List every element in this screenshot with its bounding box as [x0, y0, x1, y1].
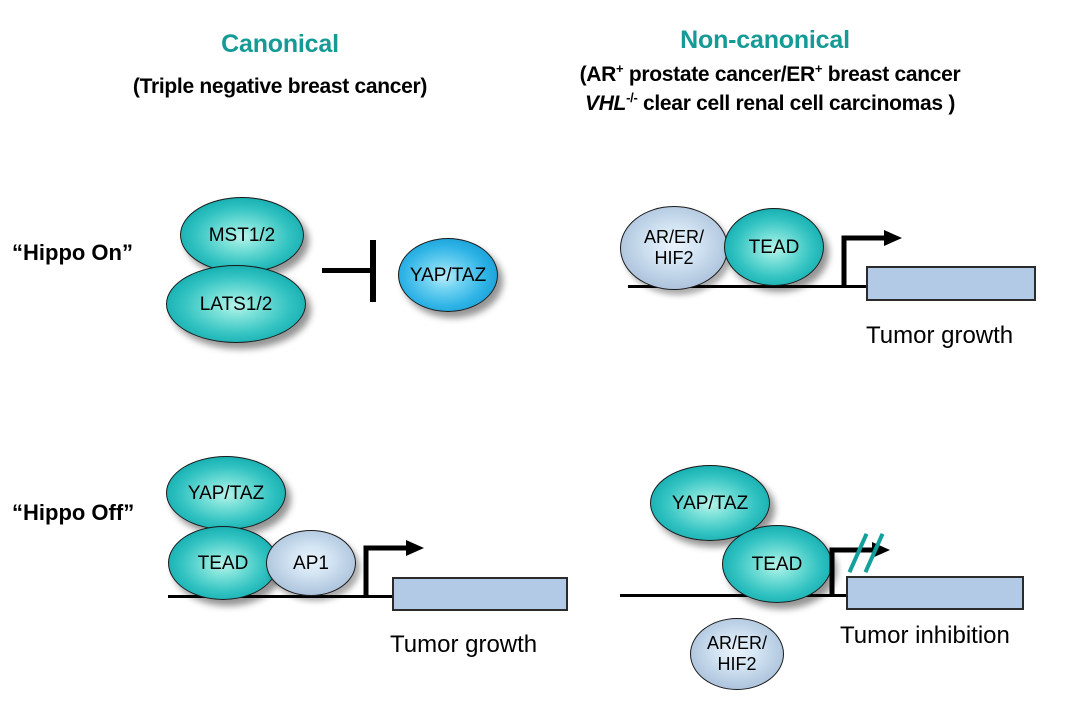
node-tead-top-right[interactable]: TEAD [724, 208, 824, 286]
subtitle-line-1: (AR+ prostate cancer/ER+ breast cancer [540, 60, 1000, 89]
caption-tumor-growth-top-right: Tumor growth [866, 322, 1013, 350]
node-mst1-2[interactable]: MST1/2 [180, 197, 304, 273]
node-yap-taz-inhibited[interactable]: YAP/TAZ [398, 238, 498, 312]
row-label-hippo-on: “Hippo On” [12, 240, 133, 266]
subtitle-line-2: VHL-/- clear cell renal cell carcinomas … [540, 89, 1000, 118]
inhibition-bar-end [370, 240, 376, 302]
node-ap1[interactable]: AP1 [266, 530, 356, 596]
header-canonical-subtitle: (Triple negative breast cancer) [90, 72, 470, 101]
gene-box-bottom-right [846, 576, 1024, 610]
node-tead-bottom-left[interactable]: TEAD [168, 526, 278, 600]
caption-tumor-inhibition: Tumor inhibition [840, 622, 1010, 650]
node-tead-bottom-right[interactable]: TEAD [722, 525, 832, 603]
node-ar-er-hif2-displaced[interactable]: AR/ER/ HIF2 [690, 618, 784, 690]
inhibition-line [322, 268, 374, 273]
gene-box-top-right [866, 266, 1036, 301]
row-label-hippo-off: “Hippo Off” [12, 500, 134, 526]
header-canonical-title: Canonical [135, 30, 425, 59]
node-ar-er-hif2-bound[interactable]: AR/ER/ HIF2 [620, 206, 728, 290]
node-lats1-2[interactable]: LATS1/2 [166, 265, 306, 343]
gene-box-bottom-left [392, 577, 568, 611]
diagram-canvas: Canonical (Triple negative breast cancer… [0, 0, 1080, 720]
header-noncanonical-subtitle: (AR+ prostate cancer/ER+ breast cancer V… [540, 60, 1000, 118]
dna-strand-bottom-right [620, 594, 854, 597]
caption-tumor-growth-bottom-left: Tumor growth [390, 631, 537, 659]
header-noncanonical-title: Non-canonical [620, 26, 910, 55]
node-yap-taz-bottom-left[interactable]: YAP/TAZ [166, 456, 286, 530]
